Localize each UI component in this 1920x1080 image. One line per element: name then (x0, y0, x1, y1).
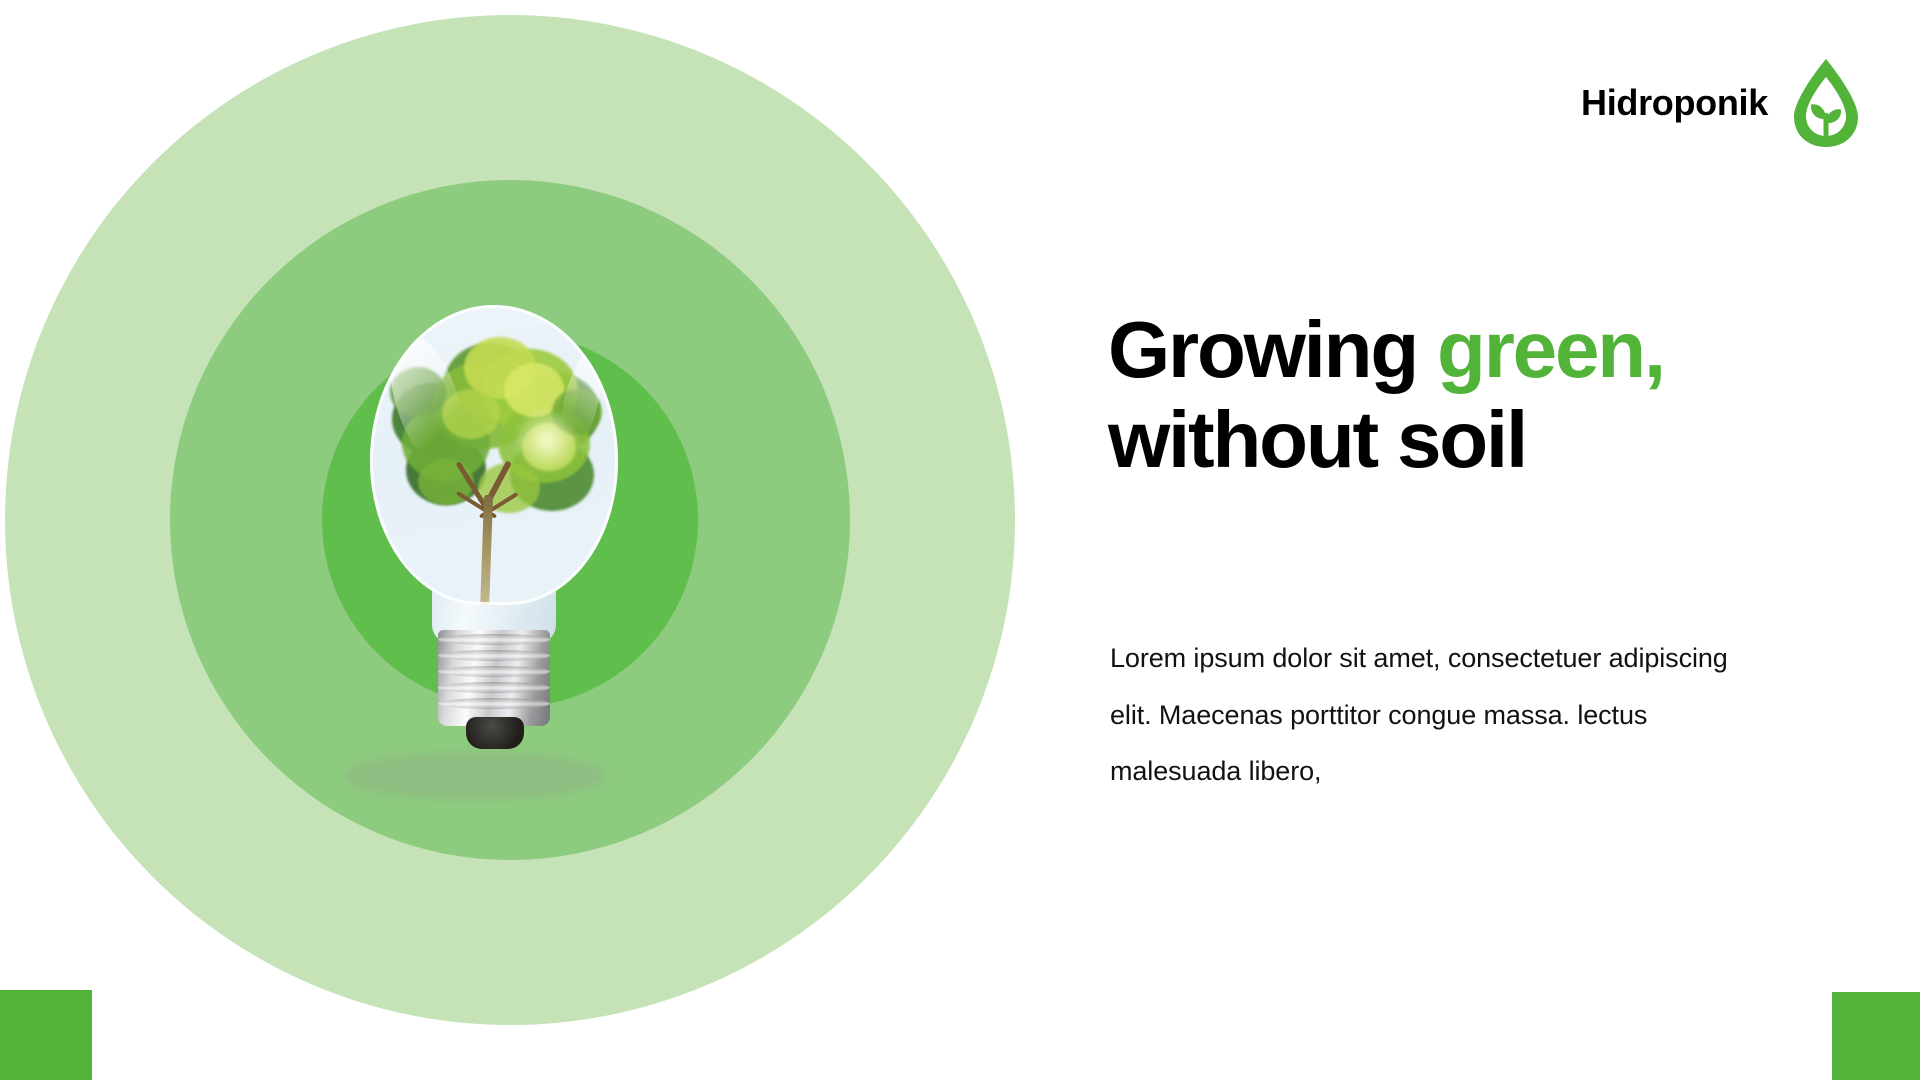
lightbulb-glass (370, 305, 618, 605)
lightbulb-with-tree-image (370, 305, 635, 740)
headline-accent-word: green, (1437, 305, 1664, 394)
page-title: Growing green, without soil (1108, 305, 1848, 484)
brand-logo[interactable]: Hidroponik (1581, 55, 1862, 151)
lightbulb-shadow (345, 752, 605, 800)
headline-line2: without soil (1108, 395, 1526, 484)
lightbulb-screw-base (438, 630, 550, 726)
presentation-slide: Hidroponik Growing green, without soil L… (0, 0, 1920, 1080)
lightbulb-contact-tip (466, 717, 524, 749)
corner-accent-square-bottom-right (1832, 992, 1920, 1080)
brand-name: Hidroponik (1581, 85, 1768, 121)
water-droplet-sprout-icon (1790, 55, 1862, 151)
headline-line1-plain: Growing (1108, 305, 1437, 394)
body-paragraph: Lorem ipsum dolor sit amet, consectetuer… (1110, 630, 1770, 800)
corner-accent-square-bottom-left (0, 990, 92, 1080)
